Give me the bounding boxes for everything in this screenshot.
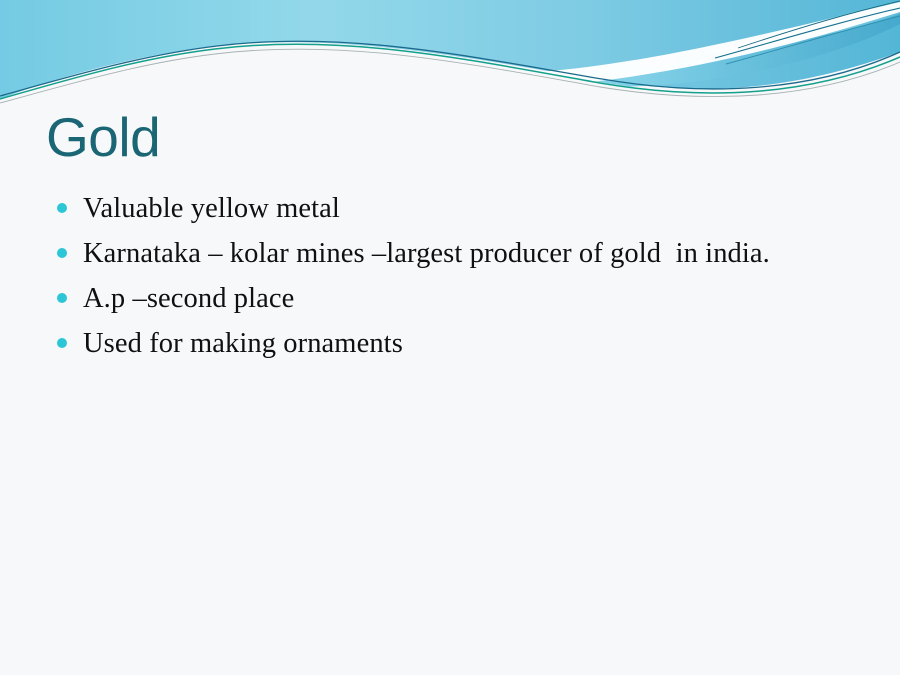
slide-title: Gold: [46, 108, 846, 167]
list-item-label: Karnataka – kolar mines –largest produce…: [83, 237, 862, 271]
wave-hairline-navy: [0, 41, 900, 96]
list-item-label: A.p –second place: [83, 282, 862, 316]
bullet-dot-icon: [57, 338, 67, 348]
wave-band-secondary: [390, 6, 900, 87]
wave-banner-svg: [0, 0, 900, 115]
wave-ribbon-white-lower: [0, 46, 900, 115]
wave-band-accent: [700, 0, 900, 54]
wave-ribbon-white-upper: [190, 2, 900, 88]
wave-banner-decoration: [0, 0, 900, 115]
list-item: A.p –second place: [52, 282, 862, 316]
slide-body-list: Valuable yellow metal Karnataka – kolar …: [52, 192, 862, 372]
bullet-dot-icon: [57, 203, 67, 213]
wave-hairline-grey: [0, 49, 900, 103]
list-item: Valuable yellow metal: [52, 192, 862, 226]
wave-band-base: [0, 0, 900, 99]
slide-canvas: Gold Valuable yellow metal Karnataka – k…: [0, 0, 900, 675]
wave-hairline-teal: [0, 44, 900, 99]
bullet-dot-icon: [57, 293, 67, 303]
wave-hairline-corner-3: [738, 1, 900, 48]
list-item-label: Valuable yellow metal: [83, 192, 862, 226]
list-item-label: Used for making ornaments: [83, 327, 862, 361]
wave-hairline-corner-1: [715, 8, 900, 58]
list-item: Karnataka – kolar mines –largest produce…: [52, 237, 862, 271]
wave-hairline-corner-2: [726, 16, 900, 64]
list-item: Used for making ornaments: [52, 327, 862, 361]
bullet-dot-icon: [57, 248, 67, 258]
